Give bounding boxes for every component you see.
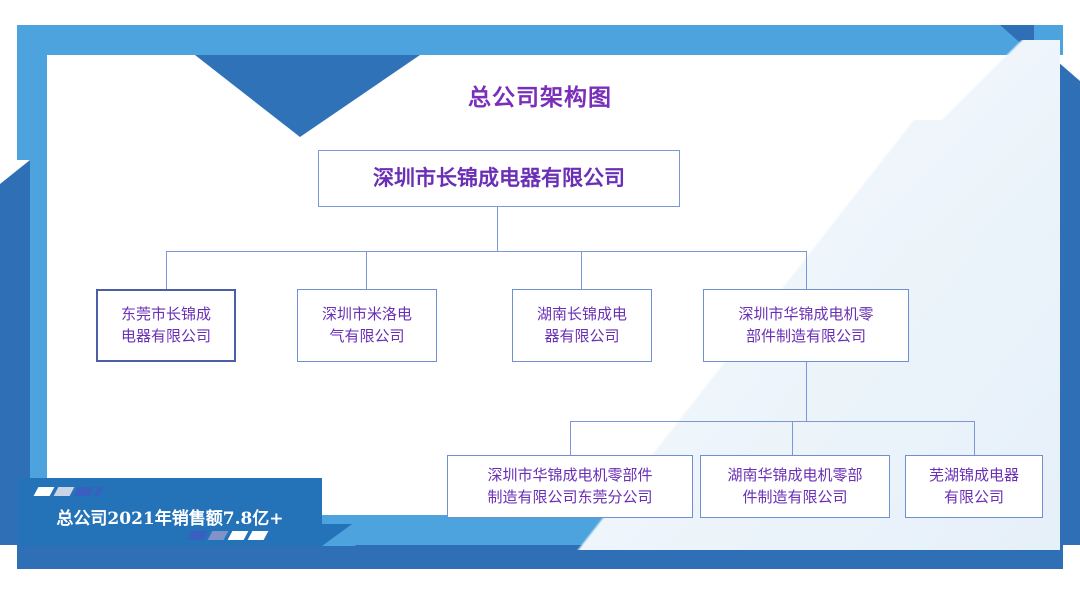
org-node-level2-3-line2: 器有限公司 (537, 326, 627, 348)
connector-level3-drop-2 (792, 421, 793, 455)
page-title: 总公司架构图 (0, 78, 1080, 112)
connector-level2-drop-4 (806, 251, 807, 289)
org-node-root[interactable]: 深圳市长锦成电器有限公司 (318, 150, 680, 207)
org-node-level2-4[interactable]: 深圳市华锦成电机零 部件制造有限公司 (703, 289, 909, 362)
slide-canvas: 总公司架构图 深圳市长锦成电器有限公司 东莞市长锦成 电器有限公司 深圳市米洛电… (0, 0, 1080, 600)
slash-mark (248, 531, 269, 540)
org-node-level2-3-line1: 湖南长锦成电 (537, 304, 627, 326)
org-node-level2-2-line1: 深圳市米洛电 (322, 304, 412, 326)
org-node-level3-3-label: 芜湖锦成电器 有限公司 (929, 465, 1019, 509)
frame-right-shadow (1050, 55, 1080, 545)
org-node-level2-2[interactable]: 深圳市米洛电 气有限公司 (297, 289, 437, 362)
frame-top-corner-accent (1000, 25, 1034, 55)
connector-level2-drop-1 (166, 251, 167, 289)
frame-bottom-shadow (17, 545, 1063, 569)
slash-mark (74, 487, 95, 496)
banner-slash-decoration-bottom (190, 531, 266, 540)
org-node-root-label: 深圳市长锦成电器有限公司 (373, 163, 625, 193)
connector-level2-bus (166, 251, 807, 252)
slash-mark (188, 531, 209, 540)
connector-level2-drop-2 (366, 251, 367, 289)
frame-top-band (17, 25, 1063, 55)
org-node-level2-4-label: 深圳市华锦成电机零 部件制造有限公司 (738, 304, 873, 348)
org-node-level2-4-line1: 深圳市华锦成电机零 (738, 304, 873, 326)
org-node-level2-2-label: 深圳市米洛电 气有限公司 (322, 304, 412, 348)
frame-left-shadow-tip (0, 160, 30, 184)
connector-branch-stem (806, 362, 807, 422)
org-node-level2-1[interactable]: 东莞市长锦成 电器有限公司 (96, 289, 236, 362)
org-node-level3-2-label: 湖南华锦成电机零部 件制造有限公司 (727, 465, 862, 509)
slash-mark (34, 487, 55, 496)
background-wedge-small (860, 40, 1060, 240)
slash-mark (54, 487, 75, 496)
org-node-level3-3-line1: 芜湖锦成电器 (929, 465, 1019, 487)
org-node-level2-3[interactable]: 湖南长锦成电 器有限公司 (512, 289, 652, 362)
connector-level3-drop-3 (974, 421, 975, 455)
org-node-level3-1[interactable]: 深圳市华锦成电机零部件 制造有限公司东莞分公司 (447, 455, 693, 518)
org-node-level3-3[interactable]: 芜湖锦成电器 有限公司 (905, 455, 1043, 518)
org-node-level3-2[interactable]: 湖南华锦成电机零部 件制造有限公司 (700, 455, 890, 518)
org-node-level3-2-line1: 湖南华锦成电机零部 (727, 465, 862, 487)
org-node-level3-3-line2: 有限公司 (929, 487, 1019, 509)
slash-mark (228, 531, 249, 540)
sales-banner-text: 总公司2021年销售额7.8亿+ (18, 504, 322, 529)
connector-level2-drop-3 (581, 251, 582, 289)
slash-mark (208, 531, 229, 540)
org-node-level2-2-line2: 气有限公司 (322, 326, 412, 348)
org-node-level3-1-line1: 深圳市华锦成电机零部件 (487, 465, 652, 487)
org-node-level2-1-label: 东莞市长锦成 电器有限公司 (121, 304, 211, 348)
banner-slash-decoration-top (36, 487, 101, 496)
org-node-level2-3-label: 湖南长锦成电 器有限公司 (537, 304, 627, 348)
org-node-level3-2-line2: 件制造有限公司 (727, 487, 862, 509)
connector-level3-drop-1 (570, 421, 571, 455)
sales-banner-notch (322, 524, 352, 546)
org-node-level3-1-label: 深圳市华锦成电机零部件 制造有限公司东莞分公司 (487, 465, 652, 509)
org-node-level3-1-line2: 制造有限公司东莞分公司 (487, 487, 652, 509)
org-node-level2-4-line2: 部件制造有限公司 (738, 326, 873, 348)
connector-root-stem (497, 206, 498, 252)
org-node-level2-1-line2: 电器有限公司 (121, 326, 211, 348)
connector-level3-bus (570, 421, 975, 422)
org-node-level2-1-line1: 东莞市长锦成 (121, 304, 211, 326)
